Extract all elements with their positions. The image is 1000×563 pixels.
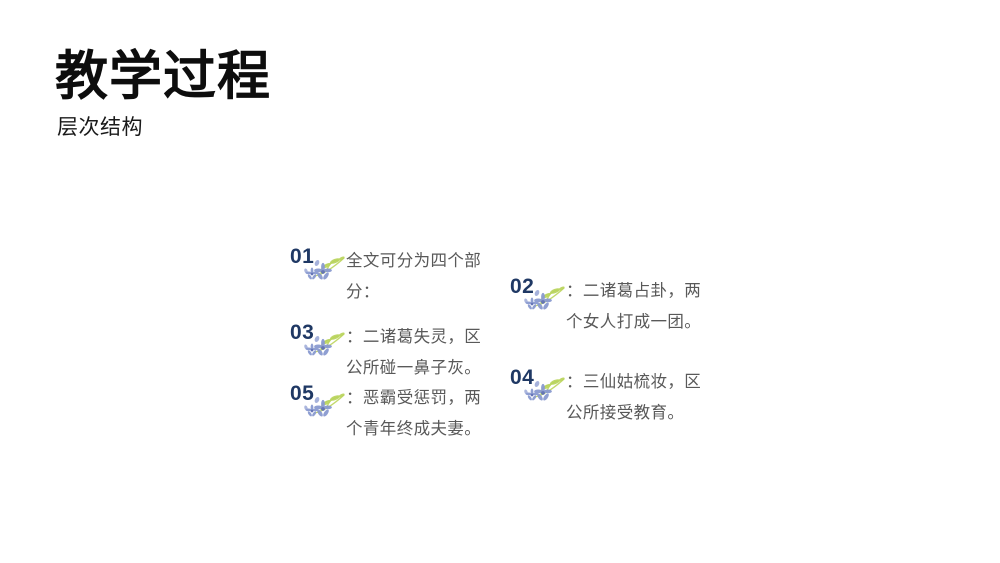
list-item[interactable]: 04 bbox=[510, 367, 718, 428]
items-list: 01 bbox=[0, 0, 1000, 563]
item-marker: 05 bbox=[290, 383, 346, 423]
item-marker: 04 bbox=[510, 367, 566, 407]
list-item[interactable]: 03 bbox=[290, 322, 498, 383]
item-text: ：三仙姑梳妆，区公所接受教育。 bbox=[566, 367, 718, 428]
list-item[interactable]: 05 bbox=[290, 383, 498, 444]
item-text: ：恶霸受惩罚，两个青年终成夫妻。 bbox=[346, 383, 498, 444]
item-marker: 02 bbox=[510, 276, 566, 316]
item-text: ：二诸葛占卦，两个女人打成一团。 bbox=[566, 276, 718, 337]
list-item[interactable]: 01 bbox=[290, 246, 498, 307]
flower-sprig-icon bbox=[303, 252, 347, 282]
item-marker: 03 bbox=[290, 322, 346, 362]
flower-sprig-icon bbox=[303, 328, 347, 358]
flower-sprig-icon bbox=[523, 373, 567, 403]
slide-canvas: 教学过程 层次结构 01 bbox=[0, 0, 1000, 563]
flower-sprig-icon bbox=[303, 389, 347, 419]
flower-sprig-icon bbox=[523, 282, 567, 312]
item-text: ：二诸葛失灵，区公所碰一鼻子灰。 bbox=[346, 322, 498, 383]
list-item[interactable]: 02 bbox=[510, 276, 718, 337]
item-text: 全文可分为四个部分： bbox=[346, 246, 498, 307]
item-marker: 01 bbox=[290, 246, 346, 286]
